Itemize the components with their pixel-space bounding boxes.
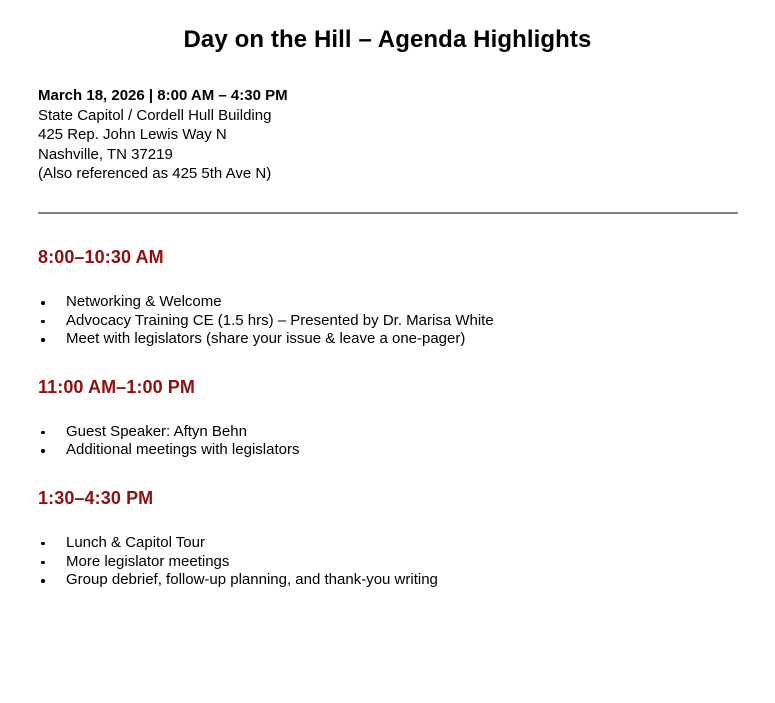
bullet-dot-icon — [41, 449, 45, 453]
agenda-section: 11:00 AM–1:00 PMGuest Speaker: Aftyn Beh… — [38, 376, 755, 460]
section-divider — [38, 212, 738, 214]
agenda-list-item: Guest Speaker: Aftyn Behn — [38, 423, 755, 442]
agenda-list-item: Lunch & Capitol Tour — [38, 534, 755, 553]
bullet-dot-icon — [41, 579, 45, 583]
agenda-item-label: Meet with legislators (share your issue … — [66, 330, 465, 347]
bullet-dot-icon — [41, 431, 45, 435]
page-title: Day on the Hill – Agenda Highlights — [0, 25, 775, 55]
agenda-list-item: Networking & Welcome — [38, 293, 755, 312]
event-location-line: 425 Rep. John Lewis Way N — [38, 125, 288, 145]
bullet-dot-icon — [41, 338, 45, 342]
agenda-list-item: More legislator meetings — [38, 553, 755, 572]
agenda-section-heading: 8:00–10:30 AM — [38, 246, 755, 268]
agenda-item-label: Lunch & Capitol Tour — [66, 534, 205, 551]
event-location-line: State Capitol / Cordell Hull Building — [38, 106, 288, 126]
agenda-item-label: Guest Speaker: Aftyn Behn — [66, 423, 247, 440]
bullet-dot-icon — [41, 320, 45, 324]
event-datetime-line: March 18, 2026 | 8:00 AM – 4:30 PM — [38, 86, 288, 106]
event-details-block: March 18, 2026 | 8:00 AM – 4:30 PMState … — [38, 86, 288, 184]
agenda-item-label: More legislator meetings — [66, 553, 229, 570]
agenda-item-list: Lunch & Capitol TourMore legislator meet… — [38, 534, 755, 590]
agenda-sections-list: 8:00–10:30 AMNetworking & WelcomeAdvocac… — [38, 246, 755, 590]
agenda-section: 8:00–10:30 AMNetworking & WelcomeAdvocac… — [38, 246, 755, 349]
agenda-section-heading: 11:00 AM–1:00 PM — [38, 376, 755, 398]
agenda-section: 1:30–4:30 PMLunch & Capitol TourMore leg… — [38, 487, 755, 590]
event-location-line: (Also referenced as 425 5th Ave N) — [38, 164, 288, 184]
agenda-item-label: Group debrief, follow-up planning, and t… — [66, 571, 438, 588]
agenda-list-item: Advocacy Training CE (1.5 hrs) – Present… — [38, 312, 755, 331]
bullet-dot-icon — [41, 542, 45, 546]
agenda-section-heading: 1:30–4:30 PM — [38, 487, 755, 509]
agenda-list-item: Group debrief, follow-up planning, and t… — [38, 571, 755, 590]
agenda-item-label: Advocacy Training CE (1.5 hrs) – Present… — [66, 312, 494, 329]
bullet-dot-icon — [41, 301, 45, 305]
event-location-line: Nashville, TN 37219 — [38, 145, 288, 165]
agenda-list-item: Additional meetings with legislators — [38, 441, 755, 460]
agenda-item-label: Additional meetings with legislators — [66, 441, 299, 458]
agenda-item-list: Guest Speaker: Aftyn BehnAdditional meet… — [38, 423, 755, 460]
bullet-dot-icon — [41, 561, 45, 565]
agenda-document-page: Day on the Hill – Agenda Highlights Marc… — [0, 0, 775, 703]
agenda-list-item: Meet with legislators (share your issue … — [38, 330, 755, 349]
agenda-item-label: Networking & Welcome — [66, 293, 222, 310]
agenda-item-list: Networking & WelcomeAdvocacy Training CE… — [38, 293, 755, 349]
